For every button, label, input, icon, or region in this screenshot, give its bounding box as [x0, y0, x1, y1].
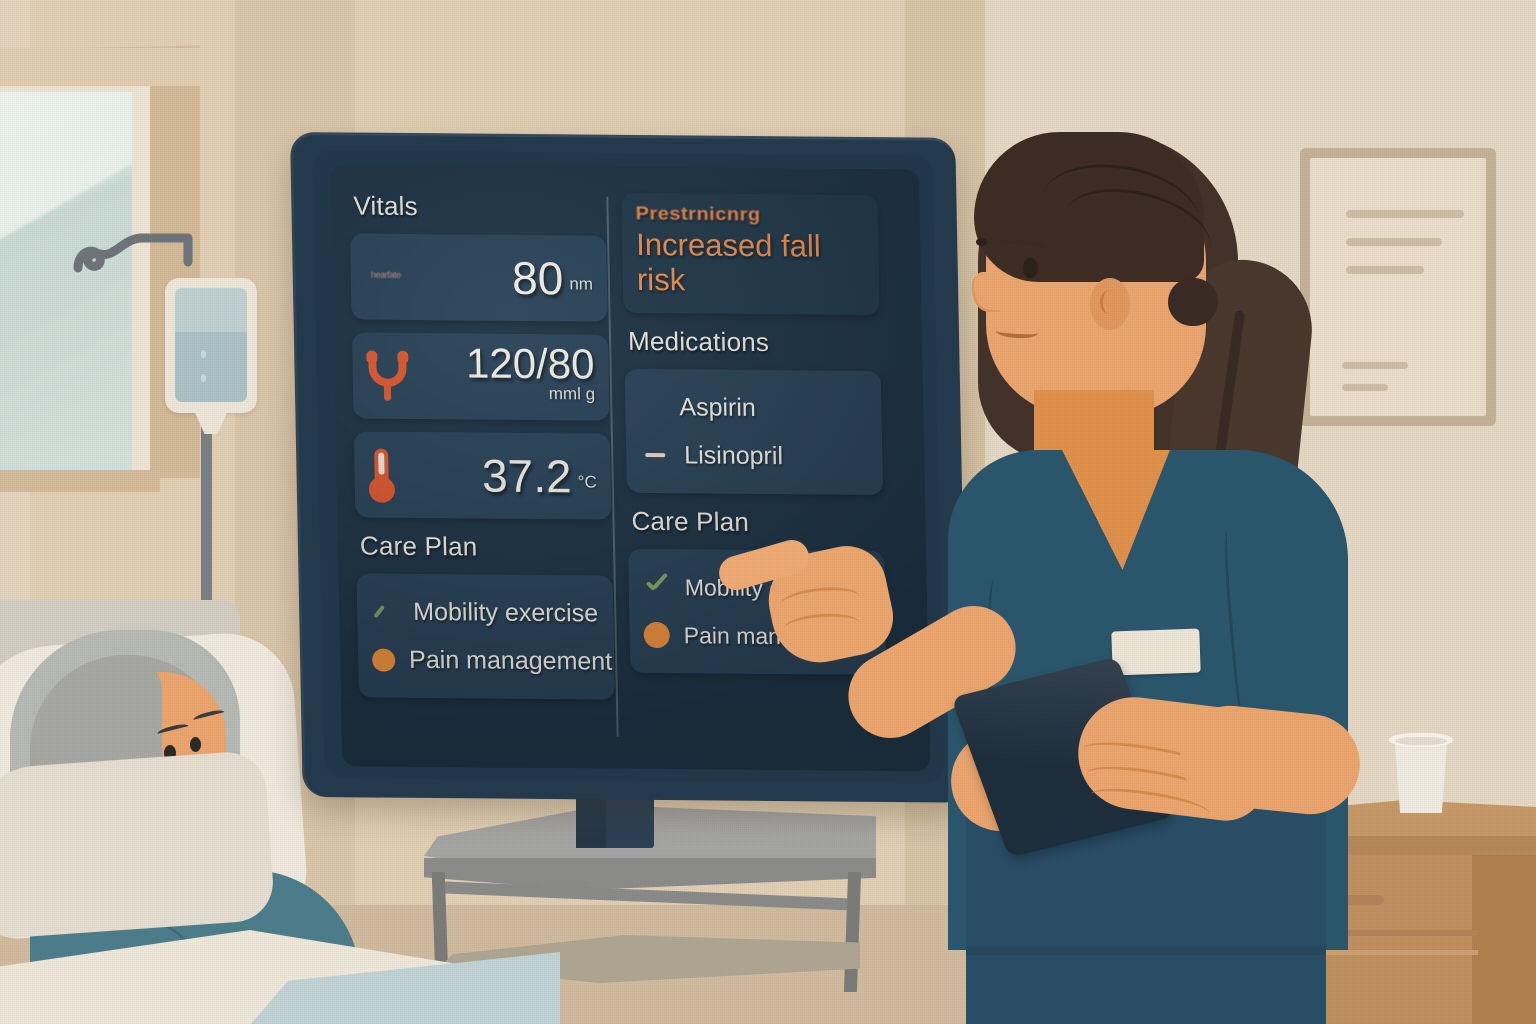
- medication-item[interactable]: Lisinopril: [640, 431, 869, 481]
- medications-section-title: Medications: [628, 326, 881, 359]
- nurse-hair-tie: [1168, 278, 1218, 326]
- heart-icon-inner-text: hearfate: [370, 270, 402, 280]
- blood-pressure-unit: mml ɡ: [549, 384, 596, 410]
- monitor-screen[interactable]: Vitals hearfate 80 nm: [331, 164, 931, 771]
- dot-icon: [643, 622, 670, 648]
- temperature-value: 37.2: [482, 453, 572, 498]
- thermometer-icon: [368, 449, 395, 501]
- iv-pole-hook-icon: [70, 228, 200, 278]
- patient-eye: [190, 737, 201, 752]
- vitals-section-title: Vitals: [353, 191, 606, 224]
- alert-card-fall-risk[interactable]: Prestrnicnrg Increased fall risk: [621, 193, 879, 316]
- care-plan-item-label: Mobility exercise: [413, 597, 598, 628]
- care-plan-section-title-right: Care Plan: [631, 506, 884, 539]
- blood-pressure-value: 120/80: [466, 343, 595, 384]
- care-plan-card-left[interactable]: Mobility exercise Pain management: [356, 573, 614, 699]
- left-panel: Vitals hearfate 80 nm: [349, 190, 615, 712]
- dot-icon: [372, 648, 395, 671]
- medication-name: Aspirin: [679, 393, 756, 423]
- medication-name: Lisinopril: [684, 441, 783, 471]
- care-plan-item[interactable]: Mobility exercise: [371, 588, 600, 638]
- iv-droplet-icon: [201, 350, 206, 358]
- medication-item[interactable]: Aspirin: [639, 383, 868, 433]
- care-plan-section-title-left: Care Plan: [360, 530, 613, 563]
- nurse-eye: [1023, 258, 1038, 278]
- medications-card[interactable]: Aspirin Lisinopril: [625, 369, 883, 495]
- vital-card-heart-rate[interactable]: hearfate 80 nm: [350, 233, 608, 321]
- nurse-eye-far: [976, 238, 987, 246]
- heart-rate-value: 80: [512, 256, 564, 301]
- alert-message: Increased fall risk: [636, 228, 865, 299]
- care-plan-item-label: Pain management: [409, 645, 613, 676]
- window-sill: [0, 470, 160, 492]
- heart-rate-unit: nm: [569, 274, 593, 300]
- check-icon: [371, 598, 400, 626]
- hospital-room-scene: Vitals hearfate 80 nm: [0, 0, 1536, 1024]
- droplet-icon: [639, 390, 666, 424]
- iv-droplet-icon: [201, 374, 206, 382]
- vital-card-temperature[interactable]: 37.2 °C: [354, 431, 612, 519]
- care-plan-item[interactable]: Pain management: [372, 636, 601, 686]
- pill-icon: [640, 440, 671, 470]
- vital-card-blood-pressure[interactable]: 120/80 mml ɡ: [352, 332, 610, 420]
- nurse-scrubs-waist: [966, 946, 1326, 955]
- nurse-name-badge: [1111, 628, 1200, 675]
- heart-icon: hearfate: [364, 257, 407, 297]
- stethoscope-icon: [366, 351, 409, 401]
- iv-bag-air: [175, 288, 247, 332]
- window-glass-sheen: [0, 92, 132, 474]
- nurse: [930, 110, 1400, 1024]
- nurse-ear-inner: [1100, 290, 1118, 314]
- window-frame-top: [0, 48, 200, 86]
- alert-kicker-label: Prestrnicnrg: [635, 204, 863, 227]
- nightstand-side: [1472, 855, 1536, 1024]
- check-icon: [643, 573, 672, 601]
- temperature-unit: °C: [578, 472, 598, 498]
- cup-rim-inner: [1395, 737, 1447, 745]
- pillow-lower: [0, 750, 276, 941]
- iv-bag-fluid: [175, 332, 247, 402]
